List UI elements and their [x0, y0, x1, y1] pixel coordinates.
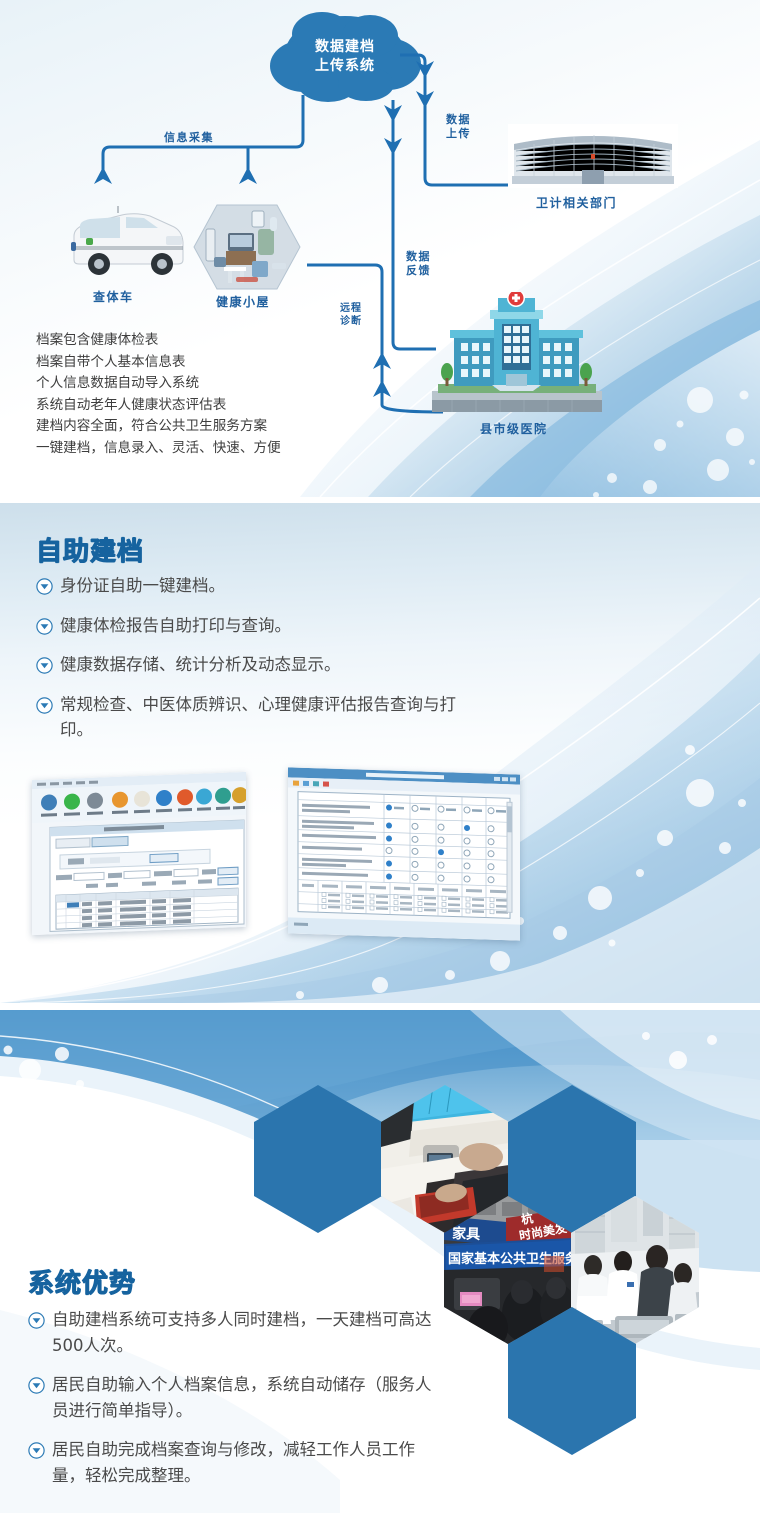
section-title-self-service: 自助建档 [36, 531, 144, 568]
government-building-image [508, 124, 678, 188]
chevron-down-circle-icon [36, 697, 53, 714]
feature-item: 档案包含健康体检表 [36, 330, 456, 352]
system-advantages-bullet-list: 自助建档系统可支持多人同时建档，一天建档可高达500人次。 居民自助输入个人档案… [28, 1307, 468, 1502]
feature-item: 系统自动老年人健康状态评估表 [36, 395, 456, 417]
list-item-text: 自助建档系统可支持多人同时建档，一天建档可高达500人次。 [52, 1307, 447, 1358]
medical-van-image [66, 202, 191, 282]
screenshot-assessment-form [288, 767, 520, 940]
chevron-down-circle-icon [28, 1377, 45, 1394]
list-item-text: 居民自助完成档案查询与修改，减轻工作人员工作量，轻松完成整理。 [52, 1437, 447, 1488]
node-label-health-hut: 健康小屋 [216, 293, 270, 310]
node-label-van: 查体车 [93, 288, 134, 305]
chevron-down-circle-icon [36, 657, 53, 674]
list-item: 居民自助完成档案查询与修改，减轻工作人员工作量，轻松完成整理。 [28, 1437, 468, 1488]
flow-diagram-section: 数据建档 上传系统 [0, 0, 760, 497]
chevron-down-circle-icon [28, 1312, 45, 1329]
screenshot-archive-software [32, 772, 246, 935]
list-item: 健康体检报告自助打印与查询。 [36, 613, 486, 639]
self-service-bullet-list: 身份证自助一键建档。 健康体检报告自助打印与查询。 健康数据存储、统计分析及动态… [36, 573, 486, 757]
list-item-text: 健康数据存储、统计分析及动态显示。 [60, 652, 341, 678]
label-data-upload: 数据 上传 [446, 113, 471, 141]
section-title-system-advantages: 系统优势 [28, 1263, 136, 1300]
health-hut-image [192, 203, 302, 291]
feature-item: 一键建档，信息录入、灵活、快速、方便 [36, 438, 456, 460]
list-item-text: 居民自助输入个人档案信息，系统自动储存（服务人员进行简单指导）。 [52, 1372, 447, 1423]
chevron-down-circle-icon [28, 1442, 45, 1459]
feature-list: 档案包含健康体检表 档案自带个人基本信息表 个人信息数据自动导入系统 系统自动老… [36, 330, 456, 459]
feature-item: 档案自带个人基本信息表 [36, 352, 456, 374]
label-remote-diagnosis: 远程 诊断 [340, 302, 362, 328]
list-item: 居民自助输入个人档案信息，系统自动储存（服务人员进行简单指导）。 [28, 1372, 468, 1423]
feature-item: 个人信息数据自动导入系统 [36, 373, 456, 395]
list-item: 健康数据存储、统计分析及动态显示。 [36, 652, 486, 678]
list-item: 常规检查、中医体质辨识、心理健康评估报告查询与打印。 [36, 692, 486, 743]
svg-text:家具: 家具 [452, 1225, 481, 1243]
list-item: 身份证自助一键建档。 [36, 573, 486, 599]
svg-text:杭: 杭 [520, 1210, 534, 1227]
feature-item: 建档内容全面，符合公共卫生服务方案 [36, 416, 456, 438]
node-label-health-department: 卫计相关部门 [536, 194, 617, 211]
list-item-text: 常规检查、中医体质辨识、心理健康评估报告查询与打印。 [60, 692, 470, 743]
label-data-feedback: 数据 反馈 [406, 250, 431, 278]
node-label-hospital: 县市级医院 [480, 420, 548, 437]
list-item: 自助建档系统可支持多人同时建档，一天建档可高达500人次。 [28, 1307, 468, 1358]
chevron-down-circle-icon [36, 618, 53, 635]
label-information-collection: 信息采集 [164, 131, 214, 145]
list-item-text: 身份证自助一键建档。 [60, 573, 225, 599]
list-item-text: 健康体检报告自助打印与查询。 [60, 613, 291, 639]
chevron-down-circle-icon [36, 578, 53, 595]
system-advantages-section: 家具 杭 时尚美发 国家基本公共卫生服务车 [0, 1010, 760, 1513]
self-service-archiving-section: 自助建档 身份证自助一键建档。 健康体检报告自助打印与查询。 健康数据存储、统计… [0, 503, 760, 1003]
